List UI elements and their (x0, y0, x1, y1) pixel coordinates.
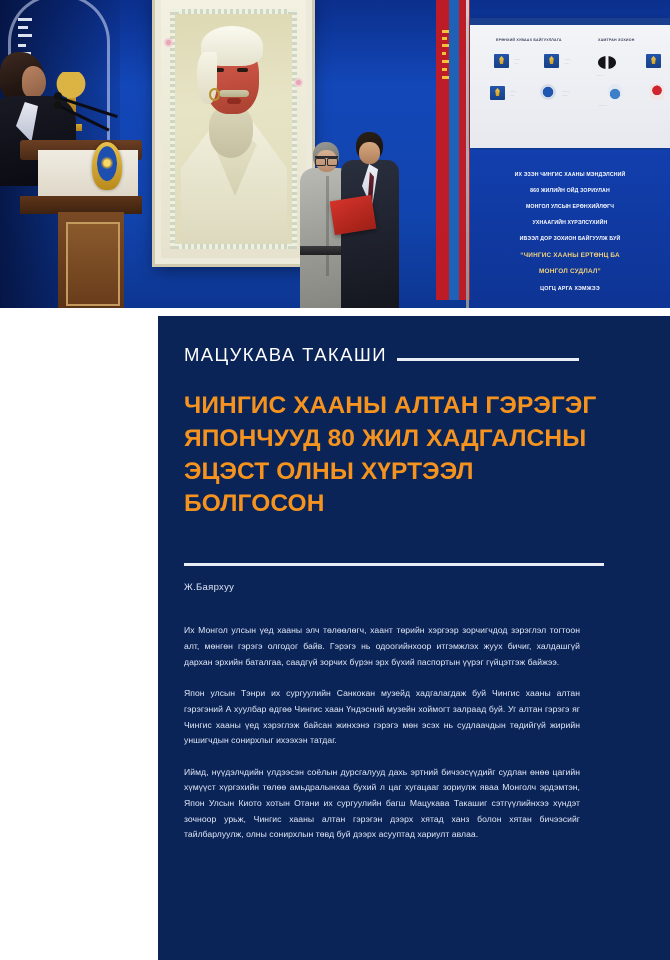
soyombo-symbol-icon (442, 30, 451, 86)
banner-line-2: 860 ЖИЛИЙН ОЙД ЗОРИУЛАН (470, 188, 670, 194)
page-title: ЧИНГИС ХААНЫ АЛТАН ГЭРЭГЭГ ЯПОНЧУУД 80 Ж… (184, 390, 604, 521)
banner-line-4: УХНААГИЙН ХҮРЭЛСҮХИЙН (470, 220, 670, 226)
sponsor-board: ЕРӨНХИЙ ХУВААХ БАЙГУУЛЛАГА ХАМТРАН ЗОХИО… (470, 18, 670, 148)
article-paragraph: Их Монгол улсын үед хааны элч төлөөлөгч,… (184, 623, 580, 670)
portrait-canvas (175, 14, 292, 244)
kicker-row: МАЦУКАВА ТАКАШИ (184, 344, 644, 366)
sponsor-logo-icon (650, 84, 664, 100)
sponsor-logo-caption: ·············· (564, 58, 571, 66)
microphone-icon (54, 92, 62, 100)
podium-inlay (66, 222, 120, 306)
sponsor-logo-icon (494, 54, 509, 68)
byline-divider (184, 563, 604, 566)
banner-line-5: ИВЭЭЛ ДОР ЗОХИОН БАЙГУУЛЖ БУЙ (470, 236, 670, 242)
sponsor-logo-icon (598, 56, 616, 69)
flag-pole (466, 0, 469, 308)
sponsor-logo-caption: ········· (596, 74, 604, 78)
speaker-face (22, 66, 46, 98)
banner-title-line-2: МОНГОЛ СУДЛАЛ” (470, 268, 670, 275)
red-folder (330, 195, 377, 235)
podium-panel (38, 150, 138, 200)
banner-line-3: МОНГОЛ УЛСЫН ЕРӨНХИЙЛӨГЧ (470, 204, 670, 210)
sponsor-logo-icon (544, 54, 559, 68)
sponsor-logo-icon (646, 54, 661, 68)
banner-title-line-1: “ЧИНГИС ХААНЫ ЕРТӨНЦ БА (470, 252, 670, 259)
banner-line-1: ИХ ЭЗЭН ЧИНГИС ХААНЫ МЭНДЭЛСНИЙ (470, 172, 670, 178)
microphone-icon (54, 101, 62, 109)
portrait-eye (237, 68, 248, 72)
sponsor-heading-left: ЕРӨНХИЙ ХУВААХ БАЙГУУЛЛАГА (496, 38, 562, 42)
sponsor-logo-icon (490, 86, 505, 100)
sponsor-logo-caption: ············ (510, 90, 516, 98)
chinggis-khaan-portrait (155, 0, 312, 264)
portrait-mouth (227, 98, 241, 104)
portrait-mustache (219, 90, 249, 97)
kicker-label: МАЦУКАВА ТАКАШИ (184, 344, 387, 366)
article-panel: МАЦУКАВА ТАКАШИ ЧИНГИС ХААНЫ АЛТАН ГЭРЭГ… (158, 316, 670, 960)
article-hero-photo: ЕРӨНХИЙ ХУВААХ БАЙГУУЛЛАГА ХАМТРАН ЗОХИО… (0, 0, 670, 308)
floral-ornament-icon (164, 38, 173, 47)
sponsor-logo-caption: ·········· (598, 104, 607, 108)
byline: Ж.Баярхуу (184, 582, 644, 593)
article-body: Их Монгол улсын үед хааны элч төлөөлөгч,… (184, 623, 644, 843)
sponsor-logo-icon (540, 84, 556, 100)
kicker-rule (397, 358, 579, 361)
state-emblem-icon (92, 142, 122, 190)
sponsor-logo-caption: ············ (514, 58, 520, 66)
sponsor-heading-right: ХАМТРАН ЗОХИОН (598, 38, 634, 42)
sponsor-logo-caption: ················ (562, 90, 570, 98)
sponsor-logo-icon (608, 84, 622, 100)
man-in-suit-face (359, 142, 380, 164)
floral-ornament-icon (294, 78, 303, 87)
article-paragraph: Иймд, нүүдэлчдийн үлдээсэн соёлын дурсга… (184, 765, 580, 843)
banner-footer: ЦОГЦ АРГА ХЭМЖЭЭ (470, 286, 670, 292)
eyeglasses-icon (315, 156, 338, 164)
sponsor-board-header-bar (470, 18, 670, 25)
article-paragraph: Япон улсын Тэнри их сургуулийн Санкокан … (184, 686, 580, 749)
deel-seam (326, 176, 329, 276)
event-banner: ИХ ЭЗЭН ЧИНГИС ХААНЫ МЭНДЭЛСНИЙ 860 ЖИЛИ… (470, 150, 670, 308)
portrait-earring-icon (209, 88, 220, 101)
